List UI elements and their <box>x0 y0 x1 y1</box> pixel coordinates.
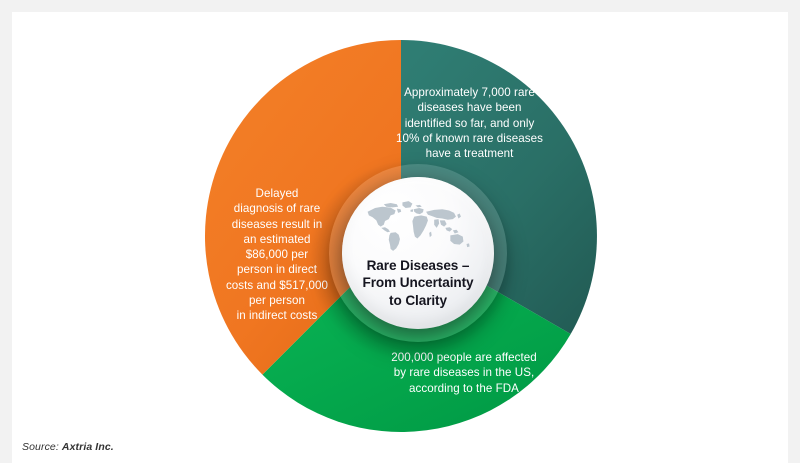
world-map-icon <box>362 197 474 255</box>
center-title-line-2: From Uncertainty <box>342 274 494 291</box>
segment-teal-line-3: identified so far, and only <box>367 116 572 131</box>
segment-label-orange: Delayed diagnosis of rare diseases resul… <box>206 186 348 324</box>
segment-orange-line-1: Delayed <box>206 186 348 201</box>
source-label: Source: <box>22 441 59 453</box>
pie-chart-figure: Approximately 7,000 rare diseases have b… <box>12 12 788 434</box>
segment-teal-line-1: Approximately 7,000 rare <box>367 85 572 100</box>
segment-teal-line-4: 10% of known rare diseases <box>367 131 572 146</box>
segment-orange-line-8: per person <box>206 293 348 308</box>
segment-teal-line-5: have a treatment <box>367 146 572 161</box>
center-title-line-3: to Clarity <box>342 292 494 309</box>
center-hub: Rare Diseases – From Uncertainty to Clar… <box>329 164 507 342</box>
segment-orange-line-5: $86,000 per <box>206 247 348 262</box>
segment-orange-line-9: in indirect costs <box>206 308 348 323</box>
segment-label-green: 200,000 people are affected by rare dise… <box>364 350 564 396</box>
segment-label-teal: Approximately 7,000 rare diseases have b… <box>367 85 572 161</box>
footer-band: Source: Axtria Inc. <box>12 434 788 463</box>
center-title: Rare Diseases – From Uncertainty to Clar… <box>342 257 494 309</box>
source-attribution: Source: Axtria Inc. <box>22 441 114 453</box>
infographic-card: Approximately 7,000 rare diseases have b… <box>12 12 788 434</box>
source-name: Axtria Inc. <box>62 441 114 453</box>
segment-orange-line-3: diseases result in <box>206 217 348 232</box>
center-title-line-1: Rare Diseases – <box>342 257 494 274</box>
segment-orange-line-4: an estimated <box>206 232 348 247</box>
segment-green-line-1: 200,000 people are affected <box>364 350 564 365</box>
segment-orange-line-7: costs and $517,000 <box>206 278 348 293</box>
segment-orange-line-2: diagnosis of rare <box>206 201 348 216</box>
segment-green-line-2: by rare diseases in the US, <box>364 365 564 380</box>
segment-teal-line-2: diseases have been <box>367 100 572 115</box>
infographic-root: Approximately 7,000 rare diseases have b… <box>0 0 800 463</box>
center-hub-disc: Rare Diseases – From Uncertainty to Clar… <box>342 177 494 329</box>
segment-green-line-3: according to the FDA <box>364 381 564 396</box>
segment-orange-line-6: person in direct <box>206 262 348 277</box>
